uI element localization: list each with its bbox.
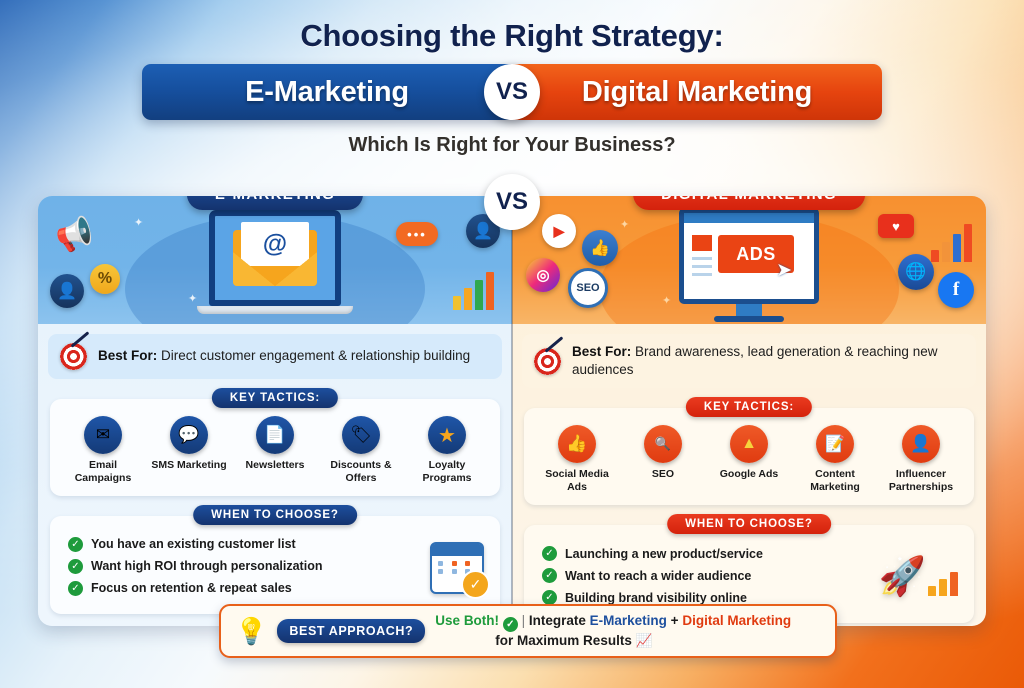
vs-badge-center: VS [484, 174, 540, 230]
when-item-label: Focus on retention & repeat sales [91, 581, 292, 595]
monitor-screen: ADS ➤ [679, 208, 819, 304]
tactic-label: Content Marketing [796, 468, 874, 494]
header: Choosing the Right Strategy: E-Marketing… [0, 18, 1024, 157]
when-item-label: Building brand visibility online [565, 591, 747, 605]
tactic-label: SEO [624, 468, 702, 481]
sparkle-icon: ✦ [188, 292, 197, 305]
tactic-label: Newsletters [236, 459, 314, 472]
globe-icon: 🌐 [898, 254, 934, 290]
tactic-label: Influencer Partnerships [882, 468, 960, 494]
plus-label: + [671, 613, 679, 628]
brand-emarketing: E-Marketing [590, 613, 667, 628]
lightbulb-icon: 💡 [235, 618, 267, 644]
tactic-item[interactable]: 🔍 SEO [624, 425, 702, 481]
key-tactics-title: KEY TACTICS: [686, 397, 812, 417]
best-for-text: Best For: Direct customer engagement & r… [98, 347, 470, 365]
growth-chart-icon [453, 270, 494, 310]
ads-monitor-icon: ADS ➤ [679, 208, 819, 322]
monitor-foot [714, 316, 784, 322]
thumbs-up-icon: 👍 [558, 425, 596, 463]
sparkle-icon: ✦ [620, 218, 629, 231]
banner-left-label: E-Marketing [245, 76, 409, 109]
tactic-item[interactable]: 📝 Content Marketing [796, 425, 874, 494]
tactic-item[interactable]: 👤 Influencer Partnerships [882, 425, 960, 494]
trend-arrow-icon: 📈 [636, 633, 653, 648]
seo-magnifier-icon: 🔍 [644, 425, 682, 463]
best-for-label: Best For: [572, 344, 631, 359]
check-icon: ✓ [542, 546, 557, 561]
list-item: ✓ Want to reach a wider audience [542, 568, 763, 583]
list-item: ✓ Focus on retention & repeat sales [68, 581, 322, 596]
when-list: ✓ Launching a new product/service ✓ Want… [534, 542, 769, 612]
when-to-choose-emarketing: WHEN TO CHOOSE? ✓ You have an existing c… [50, 516, 500, 614]
rocket-icon: 🚀 [879, 558, 926, 596]
sparkle-icon: ✦ [662, 294, 671, 307]
tactic-item[interactable]: ▲ Google Ads [710, 425, 788, 481]
page-title: Choosing the Right Strategy: [0, 18, 1024, 54]
best-for-label: Best For: [98, 348, 157, 363]
megaphone-icon: 📢 [52, 214, 97, 257]
envelope-icon: ✉ [84, 416, 122, 454]
envelope-flap [233, 252, 317, 286]
banner-right-label: Digital Marketing [582, 76, 812, 109]
tactic-label: Discounts & Offers [322, 459, 400, 485]
panel-emarketing: 📢 % 👤 @ ••• 👤 [38, 196, 512, 626]
google-ads-icon: ▲ [730, 425, 768, 463]
comparison-panels: 📢 % 👤 @ ••• 👤 [38, 196, 986, 626]
loyalty-star-icon: ★ [428, 416, 466, 454]
content-pencil-icon: 📝 [816, 425, 854, 463]
list-item: ✓ Launching a new product/service [542, 546, 763, 561]
list-item: ✓ You have an existing customer list [68, 537, 322, 552]
page-subtitle: Which Is Right for Your Business? [0, 134, 1024, 157]
growth-chart-icon [928, 570, 958, 596]
tactic-item[interactable]: ★ Loyalty Programs [408, 416, 486, 485]
check-icon: ✓ [68, 559, 83, 574]
separator: | [522, 613, 526, 628]
tactic-item[interactable]: ✉ Email Campaigns [64, 416, 142, 485]
check-icon: ✓ [68, 581, 83, 596]
facebook-icon: f [938, 272, 974, 308]
panel-divider [511, 196, 513, 626]
heart-icon: ♥ [878, 214, 914, 238]
tactic-item[interactable]: 👍 Social Media Ads [538, 425, 616, 494]
calendar-header [432, 544, 482, 556]
when-art: ✓ [430, 542, 490, 594]
best-for-text: Best For: Brand awareness, lead generati… [572, 343, 964, 379]
tactic-item[interactable]: 📄 Newsletters [236, 416, 314, 472]
sparkle-icon: ✦ [134, 216, 143, 229]
check-icon: ✓ [542, 590, 557, 605]
browser-bar [684, 213, 814, 223]
panel-title-digital: DIGITAL MARKETING [633, 196, 865, 210]
growth-chart-icon [931, 222, 972, 262]
list-item: ✓ Want high ROI through personalization [68, 559, 322, 574]
target-icon [534, 348, 561, 375]
best-approach-text: Use Both! ✓ | Integrate E-Marketing + Di… [435, 612, 791, 650]
check-icon: ✓ [503, 617, 518, 632]
when-item-label: Want high ROI through personalization [91, 559, 322, 573]
tactic-label: Email Campaigns [64, 459, 142, 485]
hero-emarketing: 📢 % 👤 @ ••• 👤 [38, 196, 512, 324]
when-list: ✓ You have an existing customer list ✓ W… [60, 533, 328, 603]
discount-tag-icon: 🏷 [342, 416, 380, 454]
laptop-screen: @ [209, 210, 341, 306]
instagram-icon: ◎ [526, 258, 560, 292]
when-item-label: You have an existing customer list [91, 537, 296, 551]
laptop-base [197, 306, 353, 314]
best-for-body: Direct customer engagement & relationshi… [157, 348, 470, 363]
tactic-item[interactable]: 🏷 Discounts & Offers [322, 416, 400, 485]
panel-digital-marketing: ▶ 👍 ◎ SEO ADS ➤ [512, 196, 986, 626]
panel-title-emarketing: E-MARKETING [187, 196, 363, 210]
laptop-email-illustration: @ [209, 210, 341, 314]
infographic-canvas: Choosing the Right Strategy: E-Marketing… [0, 0, 1024, 688]
tactics-list: ✉ Email Campaigns 💬 SMS Marketing 📄 News… [60, 416, 490, 485]
calendar-check-badge: ✓ [461, 570, 490, 599]
hero-digital: ▶ 👍 ◎ SEO ADS ➤ [512, 196, 986, 324]
when-row: ✓ You have an existing customer list ✓ W… [60, 533, 490, 603]
email-at-icon: @ [233, 230, 317, 286]
banner-right-digital: Digital Marketing [512, 64, 882, 120]
influencer-star-icon: 👤 [902, 425, 940, 463]
best-for-digital: Best For: Brand awareness, lead generati… [522, 334, 976, 388]
newsletter-document-icon: 📄 [256, 416, 294, 454]
tactic-label: Social Media Ads [538, 468, 616, 494]
thumbnail-block [692, 235, 712, 251]
banner-left-emarketing: E-Marketing [142, 64, 512, 120]
when-item-label: Launching a new product/service [565, 547, 763, 561]
key-tactics-digital: KEY TACTICS: 👍 Social Media Ads 🔍 SEO ▲ … [524, 408, 974, 505]
monitor-stand [736, 304, 762, 316]
best-approach-pill: BEST APPROACH? [277, 619, 425, 643]
chat-bubble-icon: 💬 [170, 416, 208, 454]
tactic-item[interactable]: 💬 SMS Marketing [150, 416, 228, 472]
user-icon: 👤 [50, 274, 84, 308]
key-tactics-emarketing: KEY TACTICS: ✉ Email Campaigns 💬 SMS Mar… [50, 399, 500, 496]
tail-label: for Maximum Results [435, 632, 632, 650]
tactics-list: 👍 Social Media Ads 🔍 SEO ▲ Google Ads 📝 … [534, 425, 964, 494]
when-art: 🚀 [879, 558, 964, 596]
chat-bubble-icon: ••• [396, 222, 438, 246]
when-item-label: Want to reach a wider audience [565, 569, 751, 583]
title-banner: E-Marketing Digital Marketing VS [142, 64, 882, 120]
best-approach-banner: 💡 BEST APPROACH? Use Both! ✓ | Integrate… [219, 604, 837, 658]
use-both-label: Use Both! [435, 613, 499, 628]
check-icon: ✓ [68, 537, 83, 552]
list-item: ✓ Building brand visibility online [542, 590, 763, 605]
target-icon [60, 343, 87, 370]
check-icon: ✓ [542, 568, 557, 583]
tactic-label: Loyalty Programs [408, 459, 486, 485]
seo-magnifier-icon: SEO [568, 268, 608, 308]
when-to-choose-title: WHEN TO CHOOSE? [193, 505, 357, 525]
tactic-label: SMS Marketing [150, 459, 228, 472]
key-tactics-title: KEY TACTICS: [212, 388, 338, 408]
youtube-play-icon: ▶ [542, 214, 576, 248]
integrate-label: Integrate [529, 613, 586, 628]
when-to-choose-title: WHEN TO CHOOSE? [667, 514, 831, 534]
tactic-label: Google Ads [710, 468, 788, 481]
vs-badge-header: VS [484, 64, 540, 120]
percent-icon: % [90, 264, 120, 294]
brand-digital: Digital Marketing [682, 613, 791, 628]
thumbs-up-icon: 👍 [582, 230, 618, 266]
cursor-icon: ➤ [776, 259, 792, 282]
calendar-check-icon: ✓ [430, 542, 484, 594]
when-row: ✓ Launching a new product/service ✓ Want… [534, 542, 964, 612]
best-for-emarketing: Best For: Direct customer engagement & r… [48, 334, 502, 379]
